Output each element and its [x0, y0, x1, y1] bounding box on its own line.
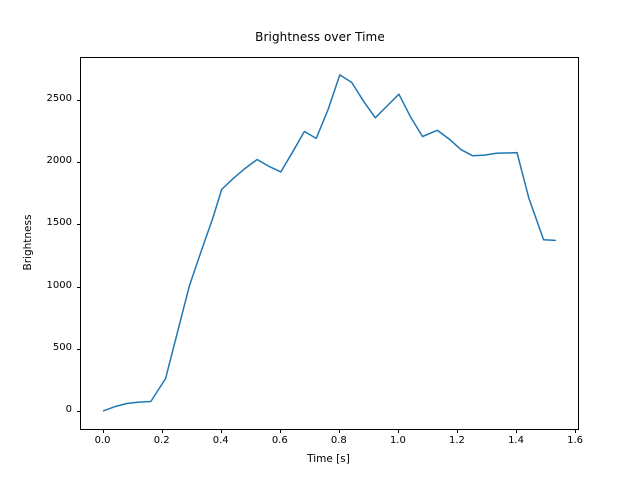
x-tick-label: 0.6: [260, 435, 300, 446]
x-tick-mark: [575, 429, 576, 433]
x-axis-label: Time [s]: [80, 453, 577, 465]
x-tick-mark: [221, 429, 222, 433]
x-tick-label: 1.4: [496, 435, 536, 446]
x-tick-mark: [457, 429, 458, 433]
x-tick-mark: [162, 429, 163, 433]
x-tick-label: 0.0: [83, 435, 123, 446]
line-series-brightness: [81, 58, 578, 429]
y-tick-mark: [77, 349, 81, 350]
x-tick-label: 0.4: [201, 435, 241, 446]
y-tick-mark: [77, 100, 81, 101]
y-tick-mark: [77, 224, 81, 225]
x-tick-mark: [280, 429, 281, 433]
x-tick-label: 1.2: [437, 435, 477, 446]
x-tick-mark: [339, 429, 340, 433]
data-polyline: [104, 75, 556, 411]
x-tick-mark: [516, 429, 517, 433]
y-axis-label: Brightness: [22, 57, 38, 428]
y-tick-mark: [77, 411, 81, 412]
plot-area: [80, 57, 579, 430]
y-tick-mark: [77, 287, 81, 288]
chart-title: Brightness over Time: [0, 30, 640, 44]
x-tick-label: 1.0: [378, 435, 418, 446]
x-tick-mark: [103, 429, 104, 433]
x-tick-label: 0.2: [142, 435, 182, 446]
x-tick-label: 1.6: [555, 435, 595, 446]
figure-canvas: Brightness over Time 0.00.20.40.60.81.01…: [0, 0, 640, 480]
x-tick-label: 0.8: [319, 435, 359, 446]
x-tick-mark: [398, 429, 399, 433]
y-tick-mark: [77, 162, 81, 163]
